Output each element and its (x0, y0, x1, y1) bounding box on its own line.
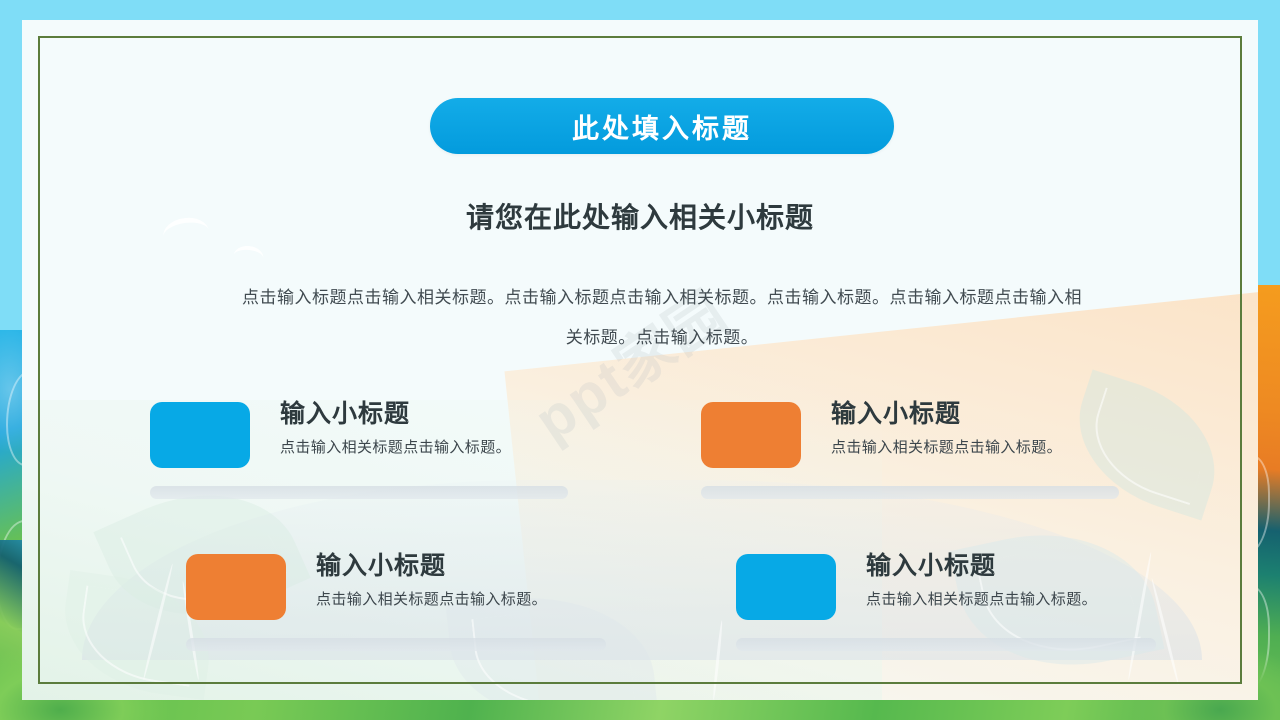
feature-heading: 输入小标题 (316, 550, 547, 582)
color-swatch-blue (150, 402, 250, 468)
slide-content: 此处填入标题 请您在此处输入相关小标题 点击输入标题点击输入相关标题。点击输入标… (22, 20, 1258, 700)
feature-heading: 输入小标题 (280, 398, 511, 430)
feature-heading: 输入小标题 (866, 550, 1097, 582)
feature-underline-bar (150, 486, 568, 499)
color-swatch-orange (186, 554, 286, 620)
feature-underline-bar (186, 638, 606, 651)
feature-description: 点击输入相关标题点击输入标题。 (280, 436, 511, 457)
feature-underline-bar (701, 486, 1119, 499)
feature-underline-bar (736, 638, 1156, 651)
feature-text-group: 输入小标题 点击输入相关标题点击输入标题。 (831, 398, 1062, 457)
title-pill-banner[interactable]: 此处填入标题 (430, 98, 894, 154)
feature-text-group: 输入小标题 点击输入相关标题点击输入标题。 (316, 550, 547, 609)
color-swatch-orange (701, 402, 801, 468)
feature-description: 点击输入相关标题点击输入标题。 (866, 588, 1097, 609)
feature-text-group: 输入小标题 点击输入相关标题点击输入标题。 (280, 398, 511, 457)
color-swatch-blue (736, 554, 836, 620)
slide-canvas: ppt家园 此处填入标题 请您在此处输入相关小标题 点击输入标题点击输入相关标题… (0, 0, 1280, 720)
feature-description: 点击输入相关标题点击输入标题。 (831, 436, 1062, 457)
subtitle-heading: 请您在此处输入相关小标题 (22, 196, 1258, 236)
feature-description: 点击输入相关标题点击输入标题。 (316, 588, 547, 609)
feature-text-group: 输入小标题 点击输入相关标题点击输入标题。 (866, 550, 1097, 609)
slide-card: ppt家园 此处填入标题 请您在此处输入相关小标题 点击输入标题点击输入相关标题… (22, 20, 1258, 700)
title-pill-label: 此处填入标题 (572, 107, 752, 146)
body-paragraph: 点击输入标题点击输入相关标题。点击输入标题点击输入相关标题。点击输入标题。点击输… (234, 278, 1090, 358)
feature-heading: 输入小标题 (831, 398, 1062, 430)
